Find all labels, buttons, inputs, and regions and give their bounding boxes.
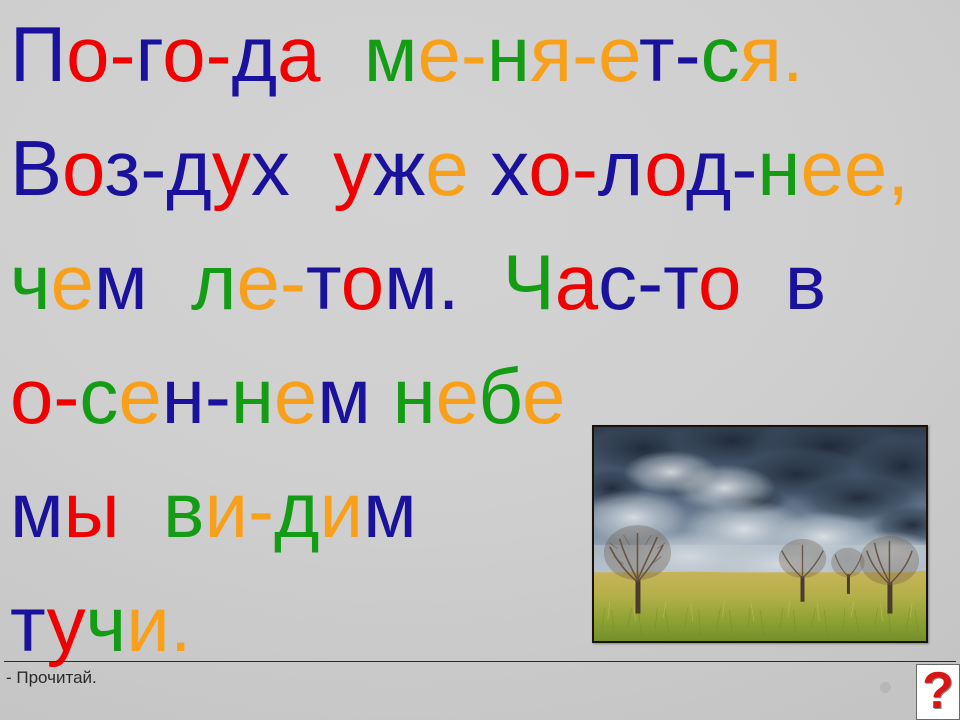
syllable-char: е: [425, 124, 468, 212]
syllable-char: д: [166, 124, 212, 212]
syllable-char: о: [341, 238, 384, 326]
syllable-char: и: [204, 466, 248, 554]
syllable-char: е: [237, 238, 280, 326]
syllable-char: [148, 238, 191, 326]
syllable-char: м: [363, 466, 417, 554]
syllable-char: [371, 352, 393, 440]
syllable-char: н: [757, 124, 800, 212]
syllable-char: -: [205, 352, 231, 440]
syllable-char: а: [277, 10, 320, 98]
syllable-char: о: [528, 124, 571, 212]
instruction-note: - Прочитай.: [6, 668, 97, 688]
syllable-char: ж: [373, 124, 425, 212]
syllable-char: н: [487, 10, 530, 98]
syllable-char: т: [639, 10, 675, 98]
syllable-char: м: [384, 238, 438, 326]
syllable-char: я: [740, 10, 782, 98]
syllable-char: у: [333, 124, 373, 212]
syllable-char: е: [844, 124, 887, 212]
syllable-char: е: [598, 10, 639, 98]
syllable-char: е: [118, 352, 161, 440]
syllable-char: о: [62, 124, 105, 212]
syllable-char: -: [637, 238, 663, 326]
slide-canvas: По-го-да ме-ня-ет-ся. Воз-дух уже хо-лод…: [0, 0, 960, 720]
syllable-char: .: [170, 580, 192, 668]
syllable-char: [459, 238, 502, 326]
syllable-char: В: [10, 124, 62, 212]
syllable-char: ,: [887, 124, 909, 212]
syllable-char: о: [162, 10, 205, 98]
syllable-char: -: [248, 466, 274, 554]
syllable-char: е: [800, 124, 843, 212]
syllable-char: с: [79, 352, 118, 440]
syllable-char: л: [191, 238, 237, 326]
syllable-char: м: [317, 352, 371, 440]
syllable-char: .: [782, 10, 804, 98]
syllable-char: у: [212, 124, 251, 212]
syllable-char: [290, 124, 333, 212]
syllable-char: -: [140, 124, 166, 212]
help-button[interactable]: ?: [916, 664, 960, 720]
syllable-char: м: [364, 10, 418, 98]
syllable-char: з: [105, 124, 141, 212]
syllable-char: [120, 466, 163, 554]
syllable-char: -: [731, 124, 757, 212]
syllable-char: х: [251, 124, 290, 212]
syllable-char: д: [686, 124, 732, 212]
syllable-char: о: [10, 352, 53, 440]
syllable-char: е: [436, 352, 479, 440]
syllable-char: .: [438, 238, 460, 326]
syllable-char: а: [555, 238, 598, 326]
syllable-char: Ч: [503, 238, 555, 326]
syllable-char: -: [206, 10, 232, 98]
syllable-char: [469, 124, 491, 212]
syllable-char: и: [126, 580, 170, 668]
syllable-char: -: [675, 10, 701, 98]
syllable-char: д: [232, 10, 278, 98]
syllable-char: н: [393, 352, 436, 440]
syllable-char: о: [698, 238, 741, 326]
syllable-char: б: [478, 352, 522, 440]
text-line-3: чем ле-том. Час-то в: [10, 228, 960, 342]
syllable-char: д: [274, 466, 320, 554]
syllable-char: у: [47, 580, 86, 668]
syllable-char: -: [280, 238, 306, 326]
syllable-char: е: [417, 10, 460, 98]
syllable-char: х: [490, 124, 528, 212]
storm-clouds-over-meadow-photo: [592, 425, 928, 643]
syllable-char: т: [10, 580, 47, 668]
syllable-char: е: [51, 238, 94, 326]
syllable-char: -: [53, 352, 79, 440]
syllable-char: е: [274, 352, 317, 440]
syllable-char: [320, 10, 363, 98]
syllable-char: ч: [86, 580, 127, 668]
syllable-char: в: [163, 466, 204, 554]
syllable-char: П: [10, 10, 66, 98]
syllable-char: н: [162, 352, 205, 440]
syllable-char: г: [135, 10, 162, 98]
syllable-char: -: [461, 10, 487, 98]
syllable-char: о: [66, 10, 109, 98]
syllable-char: -: [572, 124, 598, 212]
syllable-char: л: [598, 124, 644, 212]
syllable-char: м: [94, 238, 148, 326]
syllable-char: с: [701, 10, 740, 98]
syllable-char: т: [306, 238, 341, 326]
syllable-char: в: [785, 238, 826, 326]
footer-divider: [4, 661, 956, 662]
syllable-char: о: [644, 124, 686, 212]
text-line-1: По-го-да ме-ня-ет-ся.: [10, 0, 960, 114]
syllable-char: -: [572, 10, 598, 98]
syllable-char: [741, 238, 784, 326]
syllable-char: т: [663, 238, 698, 326]
syllable-char: ч: [10, 238, 51, 326]
question-mark-icon: ?: [922, 665, 954, 717]
status-dot: [880, 682, 891, 693]
syllable-char: с: [598, 238, 637, 326]
syllable-char: м: [10, 466, 64, 554]
text-line-2: Воз-дух уже хо-лод-нее,: [10, 114, 960, 228]
syllable-char: н: [231, 352, 274, 440]
syllable-char: -: [109, 10, 135, 98]
syllable-char: и: [320, 466, 364, 554]
syllable-char: ы: [64, 466, 120, 554]
syllable-char: я: [530, 10, 572, 98]
syllable-char: е: [522, 352, 565, 440]
